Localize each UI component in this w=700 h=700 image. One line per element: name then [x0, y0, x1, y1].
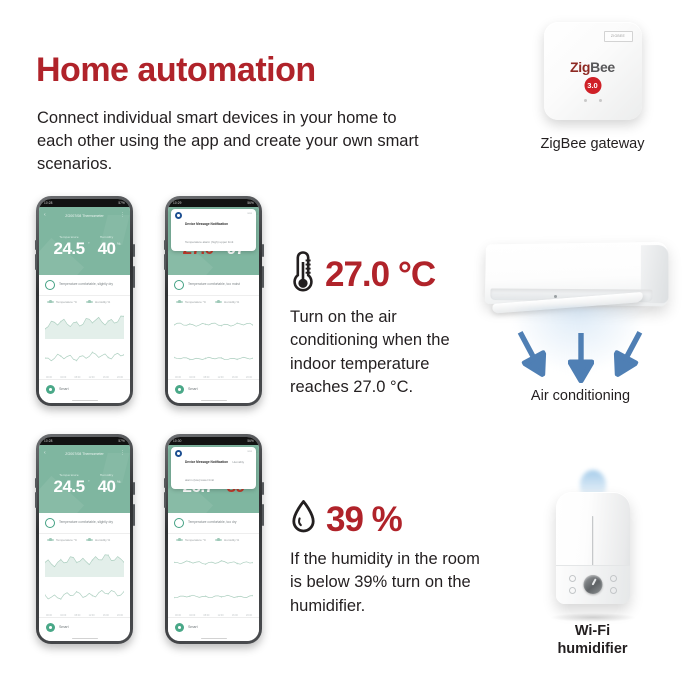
humidity-reading: Humidity 40 %: [98, 473, 116, 495]
legend-temperature-label: Temperature °C: [185, 538, 206, 542]
legend-swatch-icon: [176, 539, 183, 540]
humidity-chart: [45, 342, 124, 373]
back-icon[interactable]: ‹: [44, 451, 46, 456]
smart-icon: [175, 385, 184, 394]
phone-power-button[interactable]: [262, 482, 264, 495]
notification-time: now: [247, 450, 252, 453]
phone-hero-panel: ‹ ZG007/08 Thermometer ⋮ Temperature 24.…: [39, 445, 130, 513]
legend-temperature-label: Temperature °C: [185, 300, 206, 304]
app-title: ZG007/08 Thermometer: [65, 214, 103, 218]
legend-temperature-label: Temperature °C: [56, 538, 77, 542]
statusbar-battery: 57%: [118, 439, 125, 443]
legend-humidity-label: Humidity %: [224, 300, 239, 304]
legend-swatch-icon: [86, 301, 93, 302]
phone-volume-up-button[interactable]: [35, 478, 37, 488]
humidity-chart: [174, 580, 253, 611]
gateway-led-row: [544, 89, 642, 107]
humidifier-timer-icon: [610, 575, 617, 582]
humidifier-block: Wi-Fi humidifier: [500, 470, 685, 658]
home-indicator: [39, 636, 130, 641]
app-title: ZG007/08 Thermometer: [65, 452, 103, 456]
temperature-chart: [45, 546, 124, 577]
legend-swatch-icon: [176, 301, 183, 302]
history-charts: 00:0004:0008:0012:0016:0020:00: [39, 544, 130, 617]
smart-footer-button[interactable]: Smart: [168, 617, 259, 636]
gateway-caption: ZigBee gateway: [500, 135, 685, 153]
phone-notch: [70, 199, 100, 206]
phone-hero-panel: ‹ ZG007/08 Thermometer ⋮ Temperature 24.…: [39, 207, 130, 275]
humidifier-level-icon: [610, 587, 617, 594]
home-indicator: [168, 398, 259, 403]
temperature-chart: [174, 546, 253, 577]
smart-icon: [46, 385, 55, 394]
legend-humidity-label: Humidity %: [95, 300, 110, 304]
statusbar-time: 10:28: [44, 201, 52, 205]
humidifier-caption: Wi-Fi humidifier: [500, 622, 685, 658]
humidity-reading: Humidity 40 %: [98, 235, 116, 257]
air-conditioner-block: Air conditioning: [468, 235, 693, 405]
more-menu-icon[interactable]: ⋮: [120, 451, 125, 456]
phone-notch: [199, 437, 229, 444]
humidity-chart: [174, 342, 253, 373]
home-indicator: [168, 636, 259, 641]
humidity-chart: [45, 580, 124, 611]
phone-mockup: 10:28 57% ‹ ZG007/08 Thermometer ⋮ Tempe…: [36, 434, 133, 644]
zigbee-gateway-block: ZIGBEE ZigBee 3.0 ZigBee gateway: [500, 22, 685, 153]
temperature-unit: °: [88, 479, 90, 484]
page-title: Home automation: [36, 53, 436, 89]
legend-item-temperature: Temperature °C: [176, 538, 206, 542]
humidifier-mode-icon: [569, 575, 576, 582]
phone-notch: [70, 437, 100, 444]
humidity-value: 40: [98, 478, 116, 495]
phone-volume-up-button[interactable]: [35, 240, 37, 250]
phone-side-button[interactable]: [262, 266, 264, 288]
phone-screen: 10:28 57% ‹ ZG007/08 Thermometer ⋮ Tempe…: [39, 199, 130, 403]
status-message-text: Temperature comfortable, too moist: [188, 283, 240, 287]
humidifier-knob[interactable]: [583, 575, 602, 594]
legend-item-humidity: Humidity %: [215, 538, 239, 542]
notification-app-icon: [175, 450, 182, 457]
callout-temperature: 27.0 °C Turn on the air conditioning whe…: [290, 250, 485, 400]
humidity-value: 40: [98, 240, 116, 257]
air-conditioner-illustration: [468, 235, 693, 385]
legend-humidity-label: Humidity %: [224, 538, 239, 542]
legend-swatch-icon: [215, 539, 222, 540]
notification-banner[interactable]: Device Message Notification Humidity ala…: [171, 447, 256, 489]
phone-statusbar: 10:28 57%: [39, 199, 130, 207]
humidifier-illustration: [500, 470, 685, 618]
gateway-logo: ZigBee: [544, 59, 642, 75]
legend-swatch-icon: [86, 539, 93, 540]
gateway-led: [584, 99, 587, 102]
phone-power-button[interactable]: [133, 482, 135, 495]
phone-volume-down-button[interactable]: [35, 492, 37, 508]
smart-label: Smart: [188, 387, 198, 391]
legend-item-humidity: Humidity %: [215, 300, 239, 304]
callout-humidity-header: 39 %: [290, 498, 485, 541]
phone-mockup: 10:29 56% Device Message Notification Te…: [165, 196, 262, 406]
temperature-value: 24.5: [53, 478, 84, 495]
notification-body: Device Message Notification Humidity ala…: [185, 450, 244, 486]
phone-side-button[interactable]: [262, 504, 264, 526]
legend-item-humidity: Humidity %: [86, 538, 110, 542]
temperature-reading: Temperature 24.5 °: [53, 473, 84, 495]
sensor-readings: Temperature 24.5 ° Humidity 40 %: [39, 459, 130, 513]
humidifier-power-icon: [569, 587, 576, 594]
ac-indicator-led: [554, 295, 557, 298]
smart-footer-button[interactable]: Smart: [39, 379, 130, 398]
phone-power-button[interactable]: [262, 244, 264, 257]
home-indicator: [39, 398, 130, 403]
legend-item-temperature: Temperature °C: [176, 300, 206, 304]
status-message-card: Temperature comfortable, slightly dry: [39, 513, 130, 534]
smart-label: Smart: [188, 625, 198, 629]
humidifier-body: [556, 492, 630, 604]
status-message-text: Temperature comfortable, slightly dry: [59, 521, 113, 525]
notification-title: Device Message Notification: [185, 460, 228, 464]
back-icon[interactable]: ‹: [44, 213, 46, 218]
phone-statusbar: 10:30 56%: [168, 437, 259, 445]
phone-screen: 10:28 57% ‹ ZG007/08 Thermometer ⋮ Tempe…: [39, 437, 130, 641]
phone-appbar: ‹ ZG007/08 Thermometer ⋮: [39, 210, 130, 221]
smart-footer-button[interactable]: Smart: [39, 617, 130, 636]
callout-temperature-header: 27.0 °C: [290, 250, 485, 299]
humidity-unit: %: [117, 241, 121, 246]
humidity-unit: %: [117, 479, 121, 484]
statusbar-battery: 56%: [247, 201, 254, 205]
water-droplet-icon: [290, 498, 317, 541]
temperature-chart: [45, 308, 124, 339]
smart-label: Smart: [59, 625, 69, 629]
status-message-card: Temperature comfortable, too moist: [168, 275, 259, 296]
callout-temperature-text: Turn on the air conditioning when the in…: [290, 306, 485, 400]
status-indicator-icon: [174, 280, 184, 290]
phone-volume-down-button[interactable]: [164, 492, 166, 508]
phone-appbar: ‹ ZG007/08 Thermometer ⋮: [39, 448, 130, 459]
status-message-card: Temperature comfortable, slightly dry: [39, 275, 130, 296]
gateway-logo-zig: Zig: [570, 59, 590, 75]
phone-volume-down-button[interactable]: [35, 254, 37, 270]
intro-paragraph: Connect individual smart devices in your…: [37, 107, 427, 177]
callout-humidity-value: 39 %: [326, 502, 402, 537]
status-indicator-icon: [45, 280, 55, 290]
phone-statusbar: 10:28 57%: [39, 437, 130, 445]
notification-app-icon: [175, 212, 182, 219]
phone-screen: 10:29 56% Device Message Notification Te…: [168, 199, 259, 403]
phone-volume-up-button[interactable]: [164, 240, 166, 250]
status-message-card: Temperature comfortable, too dry: [168, 513, 259, 534]
phone-mockup: 10:30 56% Device Message Notification Hu…: [165, 434, 262, 644]
phone-statusbar: 10:29 56%: [168, 199, 259, 207]
zigbee-gateway-device: ZIGBEE ZigBee 3.0: [544, 22, 642, 120]
humidifier-caption-line1: Wi-Fi: [575, 623, 610, 639]
history-charts: 00:0004:0008:0012:0016:0020:00: [168, 306, 259, 379]
more-menu-icon[interactable]: ⋮: [120, 213, 125, 218]
thermometer-icon: [290, 250, 316, 299]
infographic-canvas: Home automation Connect individual smart…: [0, 0, 700, 700]
airflow-arrow-center: [568, 333, 594, 388]
legend-item-temperature: Temperature °C: [47, 538, 77, 542]
callout-temperature-value: 27.0 °C: [325, 257, 435, 292]
phone-volume-up-button[interactable]: [164, 478, 166, 488]
gateway-led: [599, 99, 602, 102]
air-conditioner-caption: Air conditioning: [468, 387, 693, 405]
humidifier-caption-line2: humidifier: [557, 641, 627, 657]
phone-mockup: 10:28 57% ‹ ZG007/08 Thermometer ⋮ Tempe…: [36, 196, 133, 406]
smart-icon: [46, 623, 55, 632]
statusbar-time: 10:28: [44, 439, 52, 443]
phone-side-button[interactable]: [133, 266, 135, 288]
legend-temperature-label: Temperature °C: [56, 300, 77, 304]
notification-body: Device Message Notification Temperature …: [185, 212, 244, 248]
statusbar-battery: 56%: [247, 439, 254, 443]
phone-screen: 10:30 56% Device Message Notification Hu…: [168, 437, 259, 641]
temperature-value: 24.5: [53, 240, 84, 257]
status-message-text: Temperature comfortable, slightly dry: [59, 283, 113, 287]
temperature-chart: [174, 308, 253, 339]
statusbar-time: 10:30: [173, 439, 181, 443]
temperature-unit: °: [88, 241, 90, 246]
history-charts: 00:0004:0008:0012:0016:0020:00: [39, 306, 130, 379]
legend-item-humidity: Humidity %: [86, 300, 110, 304]
smart-label: Smart: [59, 387, 69, 391]
phone-power-button[interactable]: [133, 244, 135, 257]
legend-swatch-icon: [47, 539, 54, 540]
sensor-readings: Temperature 24.5 ° Humidity 40 %: [39, 221, 130, 275]
legend-humidity-label: Humidity %: [95, 538, 110, 542]
phone-notch: [199, 199, 229, 206]
statusbar-battery: 57%: [118, 201, 125, 205]
history-charts: 00:0004:0008:0012:0016:0020:00: [168, 544, 259, 617]
notification-title: Device Message Notification: [185, 222, 228, 226]
chart-legend: Temperature °C Humidity %: [39, 534, 130, 544]
status-indicator-icon: [45, 518, 55, 528]
humidifier-water-window: [592, 516, 594, 568]
status-indicator-icon: [174, 518, 184, 528]
gateway-logo-bee: Bee: [590, 59, 615, 75]
chart-legend: Temperature °C Humidity %: [39, 296, 130, 306]
humidifier-shadow: [550, 613, 636, 622]
callout-humidity-text: If the humidity in the room is below 39%…: [290, 548, 485, 618]
humidifier-base: [556, 565, 630, 604]
statusbar-time: 10:29: [173, 201, 181, 205]
phone-side-button[interactable]: [133, 504, 135, 526]
phone-volume-down-button[interactable]: [164, 254, 166, 270]
legend-swatch-icon: [47, 301, 54, 302]
notification-subtitle: Temperature alarm (high) upper limit: [185, 240, 233, 244]
notification-time: now: [247, 212, 252, 215]
legend-item-temperature: Temperature °C: [47, 300, 77, 304]
legend-swatch-icon: [215, 301, 222, 302]
notification-banner[interactable]: Device Message Notification Temperature …: [171, 209, 256, 251]
chart-legend: Temperature °C Humidity %: [168, 296, 259, 306]
callout-humidity: 39 % If the humidity in the room is belo…: [290, 498, 485, 618]
gateway-chip-label: ZIGBEE: [604, 31, 633, 42]
temperature-reading: Temperature 24.5 °: [53, 235, 84, 257]
status-message-text: Temperature comfortable, too dry: [188, 521, 237, 525]
smart-icon: [175, 623, 184, 632]
ac-airflow-group: [468, 307, 693, 385]
chart-legend: Temperature °C Humidity %: [168, 534, 259, 544]
smart-footer-button[interactable]: Smart: [168, 379, 259, 398]
